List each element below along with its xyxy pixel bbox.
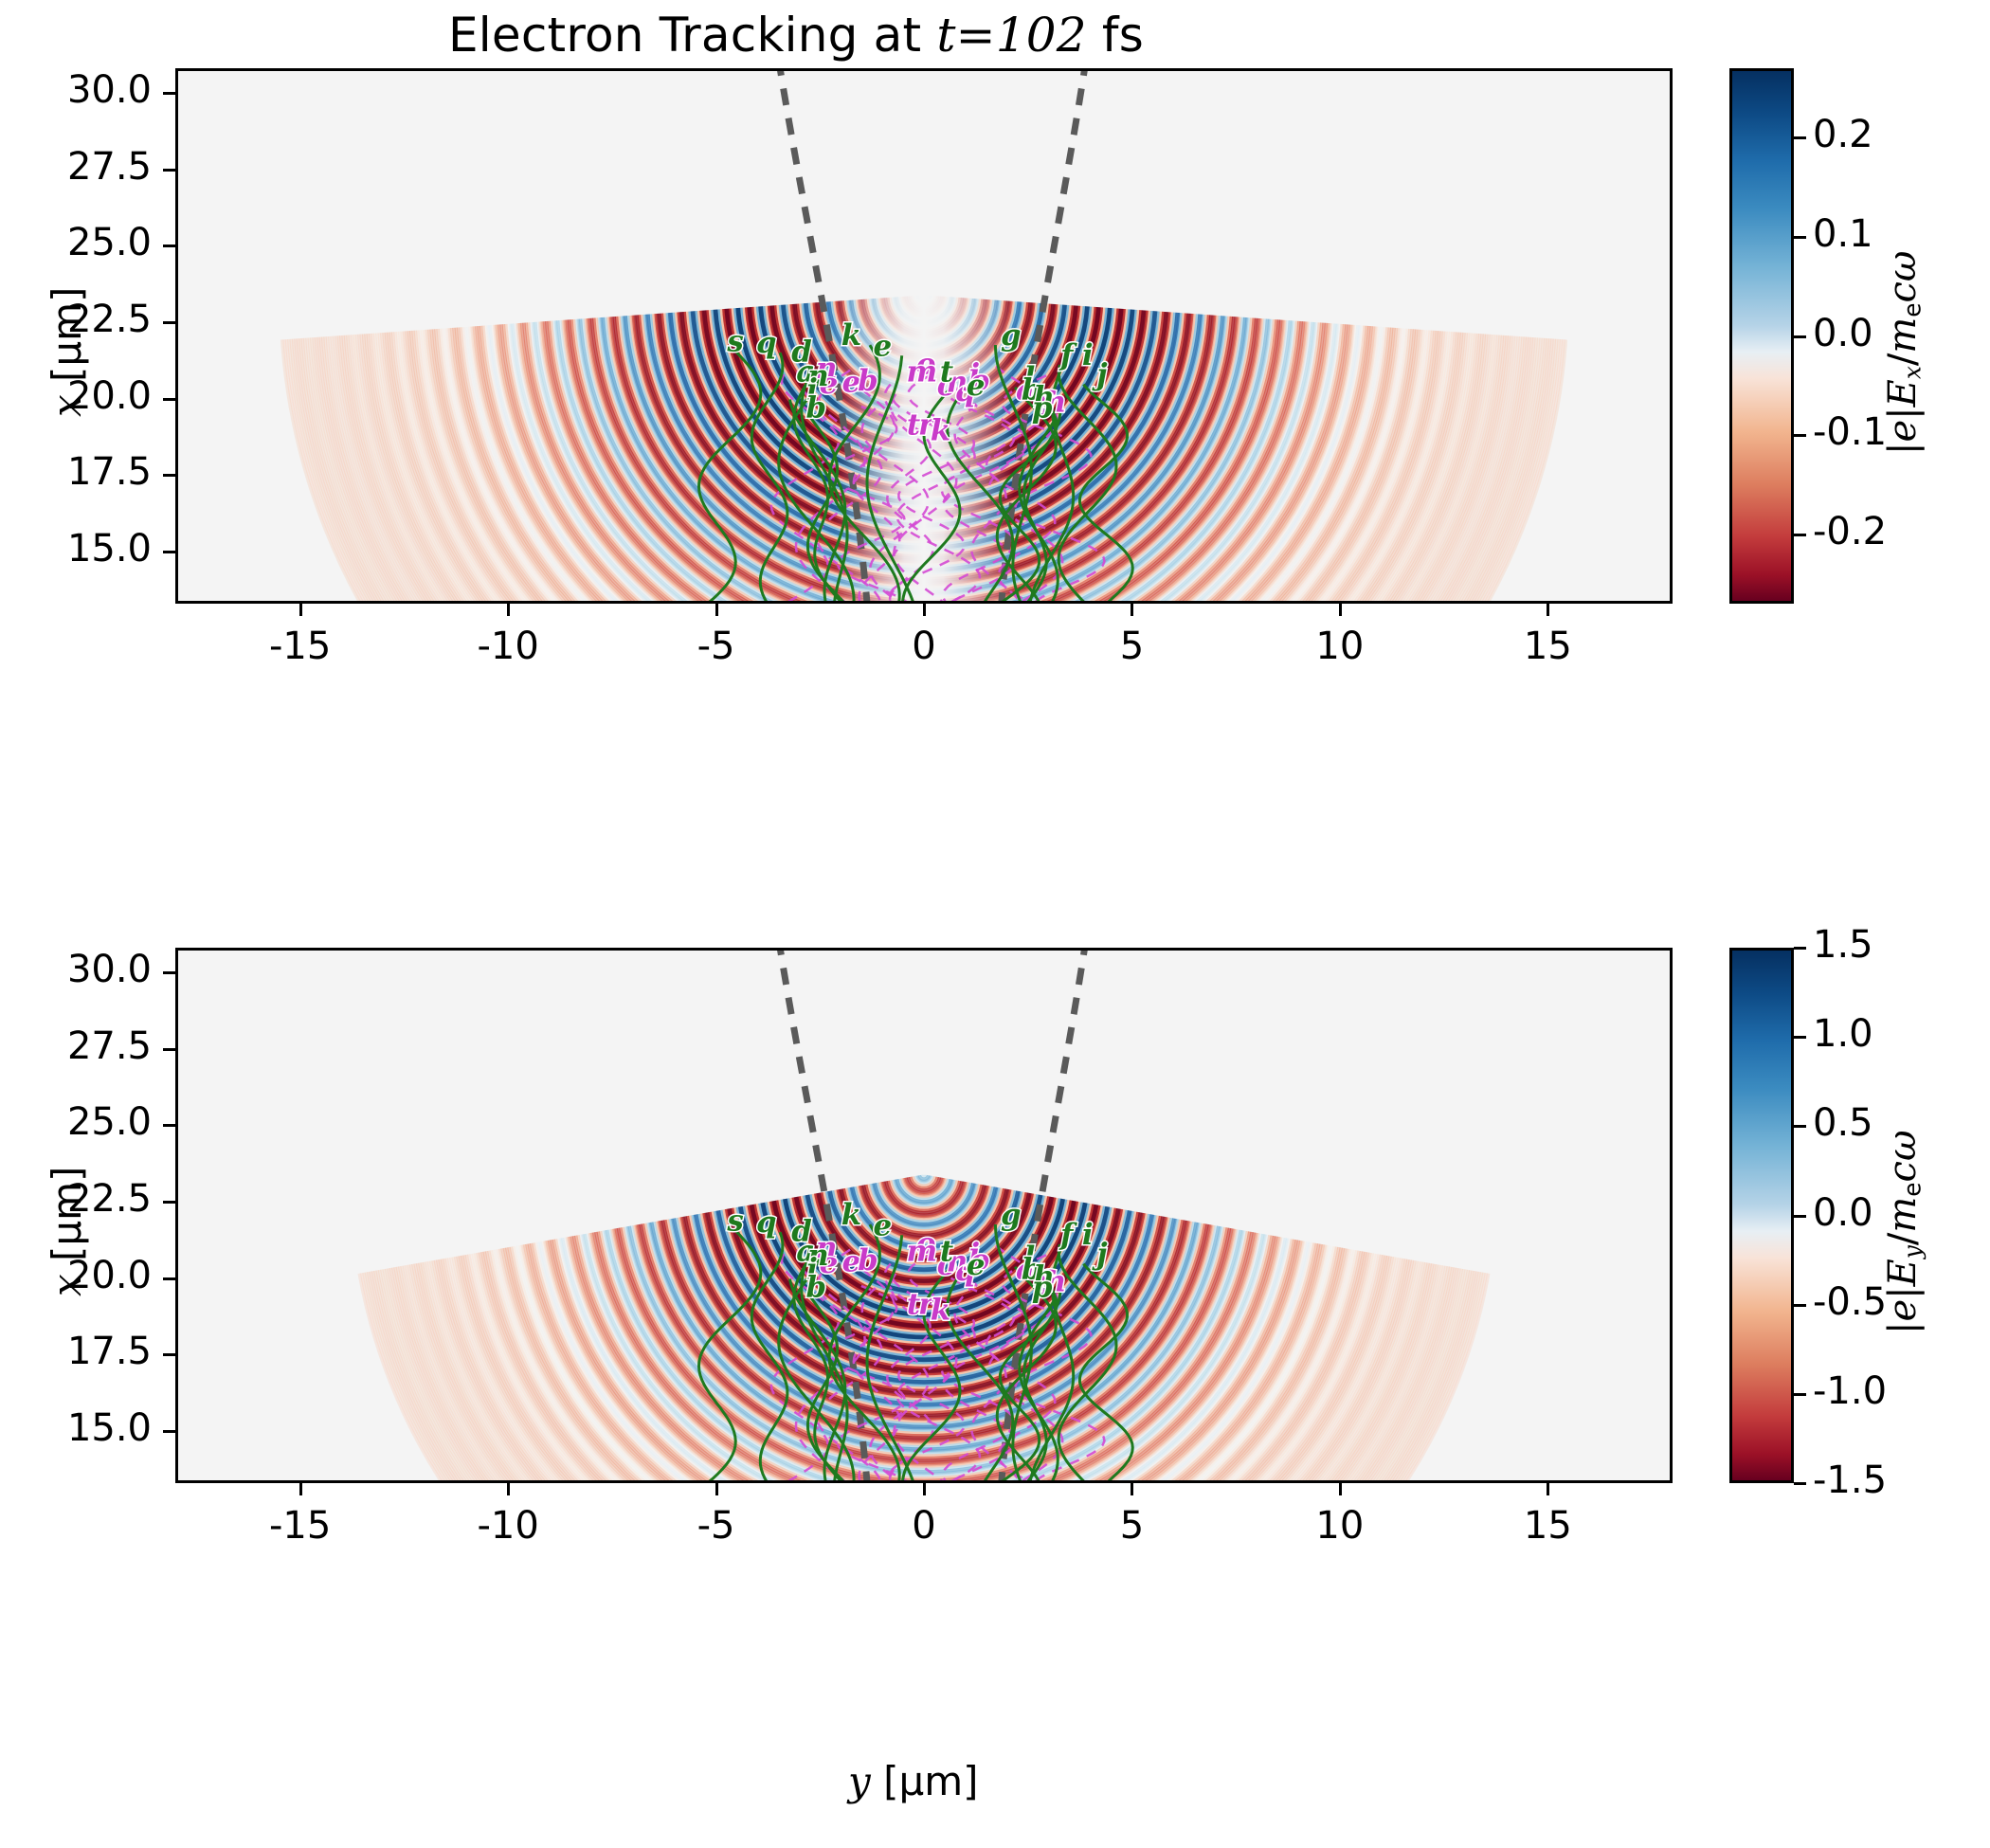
c-tick-label-bottom-3: 0.0: [1813, 1191, 1873, 1235]
y-tick-label-bottom-1: 27.5: [0, 1024, 152, 1068]
field-map-ex: neebomonqjoasmrtksqdanibketeglbhpfij: [178, 71, 1670, 601]
colorbar-label-bottom: |e|Ey/mecω: [1881, 1130, 1926, 1334]
plot-area-bottom[interactable]: neebomonqjoasmrtksqdanibketeglbhpfij: [175, 948, 1673, 1483]
colorbar-gradient-top: [1732, 71, 1791, 601]
x-tickmark-top-2: [715, 604, 718, 616]
y-tickmark-top-4: [163, 398, 175, 401]
x-tick-label-top-6: 15: [1462, 625, 1633, 668]
y-tick-label-bottom-3: 22.5: [0, 1177, 152, 1221]
c-tickmark-bottom-0: [1794, 947, 1806, 950]
c-tick-label-bottom-0: 1.5: [1813, 923, 1873, 967]
y-tickmark-top-1: [163, 169, 175, 172]
y-tick-label-bottom-4: 20.0: [0, 1254, 152, 1297]
green-marker-label: e: [873, 329, 892, 363]
green-marker-label: e: [873, 1208, 892, 1242]
x-tickmark-top-4: [1131, 604, 1133, 616]
green-marker-label: t: [940, 1235, 953, 1269]
c-tick-label-bottom-1: 1.0: [1813, 1012, 1873, 1056]
y-tick-label-bottom-5: 17.5: [0, 1330, 152, 1373]
x-axis-label: y [μm]: [848, 1758, 979, 1804]
title-variable: t: [936, 8, 955, 63]
c-tickmark-bottom-5: [1794, 1393, 1806, 1396]
c-tickmark-top-4: [1794, 534, 1806, 536]
x-tick-label-bottom-2: -5: [631, 1504, 802, 1548]
x-tick-label-top-0: -15: [215, 625, 386, 668]
colorbar-label-top: |e|Ex/mecω: [1881, 250, 1926, 455]
green-marker-label: k: [841, 1198, 861, 1232]
green-marker-label: g: [1001, 1198, 1022, 1232]
c-tick-label-bottom-2: 0.5: [1813, 1101, 1873, 1145]
title-unit: fs: [1087, 8, 1144, 63]
c-tickmark-bottom-2: [1794, 1125, 1806, 1128]
colorbar-bottom[interactable]: [1729, 948, 1794, 1483]
colorbar-gradient-bottom: [1732, 951, 1791, 1480]
x-tickmark-top-0: [299, 604, 302, 616]
green-marker-label: k: [841, 318, 861, 353]
y-tick-label-top-6: 15.0: [0, 527, 152, 571]
x-tick-label-top-5: 10: [1255, 625, 1425, 668]
magenta-marker-label: t: [907, 408, 920, 442]
x-tickmark-bottom-2: [715, 1483, 718, 1495]
c-tick-label-top-0: 0.2: [1813, 113, 1873, 156]
y-tickmark-top-3: [163, 321, 175, 324]
green-marker-label: q: [756, 1205, 777, 1240]
green-marker-label: i: [1082, 1218, 1094, 1252]
y-tick-label-top-0: 30.0: [0, 68, 152, 112]
y-tick-label-bottom-2: 25.0: [0, 1100, 152, 1144]
green-marker-label: s: [726, 325, 743, 359]
y-tickmark-bottom-3: [163, 1201, 175, 1204]
x-tick-label-top-3: 0: [839, 625, 1009, 668]
y-tickmark-bottom-0: [163, 971, 175, 974]
colorbar-top[interactable]: [1729, 68, 1794, 604]
c-tick-label-top-4: -0.2: [1813, 510, 1887, 553]
x-tickmark-bottom-3: [923, 1483, 926, 1495]
magenta-marker-label: b: [858, 364, 878, 398]
y-tick-label-bottom-0: 30.0: [0, 948, 152, 991]
magenta-marker-label: k: [931, 1294, 950, 1328]
x-tickmark-top-1: [507, 604, 510, 616]
green-marker-label: p: [1032, 1271, 1053, 1305]
x-tickmark-bottom-1: [507, 1483, 510, 1495]
green-marker-label: e: [967, 369, 986, 403]
x-tick-label-bottom-5: 10: [1255, 1504, 1425, 1548]
x-tick-label-top-1: -10: [423, 625, 593, 668]
y-tickmark-bottom-4: [163, 1277, 175, 1280]
x-tickmark-top-5: [1339, 604, 1342, 616]
x-tick-label-bottom-3: 0: [839, 1504, 1009, 1548]
green-marker-label: b: [806, 1271, 827, 1305]
c-tick-label-top-3: -0.1: [1813, 410, 1887, 454]
magenta-marker-label: k: [931, 414, 950, 448]
c-tick-label-bottom-5: -1.0: [1813, 1369, 1887, 1413]
y-tickmark-top-5: [163, 474, 175, 477]
c-tick-label-bottom-4: -0.5: [1813, 1280, 1887, 1324]
x-tickmark-bottom-5: [1339, 1483, 1342, 1495]
magenta-marker-label: t: [907, 1287, 920, 1321]
green-marker-label: q: [756, 326, 777, 360]
x-tickmark-top-6: [1547, 604, 1549, 616]
x-tick-label-top-4: 5: [1046, 625, 1217, 668]
x-tick-label-top-2: -5: [631, 625, 802, 668]
y-tick-label-top-2: 25.0: [0, 221, 152, 264]
y-tick-label-top-4: 20.0: [0, 374, 152, 418]
figure-root: Electron Tracking at t=102 fs neebomonqj…: [0, 0, 1990, 1848]
y-tickmark-bottom-1: [163, 1048, 175, 1051]
green-marker-label: b: [806, 391, 827, 426]
c-tick-label-bottom-6: -1.5: [1813, 1458, 1887, 1502]
c-tick-label-top-1: 0.1: [1813, 212, 1873, 256]
x-tick-label-bottom-1: -10: [423, 1504, 593, 1548]
y-tickmark-bottom-2: [163, 1124, 175, 1127]
y-tick-label-top-3: 22.5: [0, 298, 152, 341]
magenta-marker-label: b: [858, 1243, 878, 1277]
c-tickmark-top-1: [1794, 236, 1806, 239]
c-tickmark-top-2: [1794, 335, 1806, 338]
y-tick-label-top-5: 17.5: [0, 450, 152, 494]
magenta-marker-label: m: [906, 355, 937, 390]
y-tick-label-top-1: 27.5: [0, 145, 152, 189]
c-tickmark-bottom-3: [1794, 1215, 1806, 1218]
y-tickmark-top-6: [163, 551, 175, 553]
title-prefix: Electron Tracking at: [448, 8, 936, 63]
green-marker-label: p: [1032, 391, 1053, 426]
y-tickmark-bottom-6: [163, 1430, 175, 1433]
c-tickmark-bottom-4: [1794, 1304, 1806, 1307]
x-tick-label-bottom-4: 5: [1046, 1504, 1217, 1548]
green-marker-label: t: [940, 355, 953, 390]
green-marker-label: i: [1082, 338, 1094, 372]
c-tickmark-bottom-1: [1794, 1036, 1806, 1039]
c-tickmark-top-3: [1794, 434, 1806, 437]
title-equation: =102: [956, 8, 1087, 63]
x-tickmark-bottom-6: [1547, 1483, 1549, 1495]
x-tickmark-top-3: [923, 604, 926, 616]
figure-title: Electron Tracking at t=102 fs: [0, 8, 1592, 63]
y-tickmark-bottom-5: [163, 1353, 175, 1356]
green-marker-label: g: [1001, 318, 1022, 353]
x-tickmark-bottom-0: [299, 1483, 302, 1495]
green-marker-label: e: [967, 1248, 986, 1282]
field-map-ey: neebomonqjoasmrtksqdanibketeglbhpfij: [178, 951, 1670, 1480]
green-marker-label: s: [726, 1205, 743, 1239]
c-tick-label-top-2: 0.0: [1813, 312, 1873, 355]
c-tickmark-bottom-6: [1794, 1482, 1806, 1485]
axis-null-band: [178, 71, 1670, 601]
x-tickmark-bottom-4: [1131, 1483, 1133, 1495]
x-tick-label-bottom-6: 15: [1462, 1504, 1633, 1548]
x-tick-label-bottom-0: -15: [215, 1504, 386, 1548]
y-tickmark-top-0: [163, 92, 175, 95]
plot-area-top[interactable]: neebomonqjoasmrtksqdanibketeglbhpfij: [175, 68, 1673, 604]
y-tick-label-bottom-6: 15.0: [0, 1406, 152, 1450]
c-tickmark-top-0: [1794, 136, 1806, 139]
magenta-marker-label: m: [906, 1235, 937, 1269]
y-tickmark-top-2: [163, 245, 175, 247]
